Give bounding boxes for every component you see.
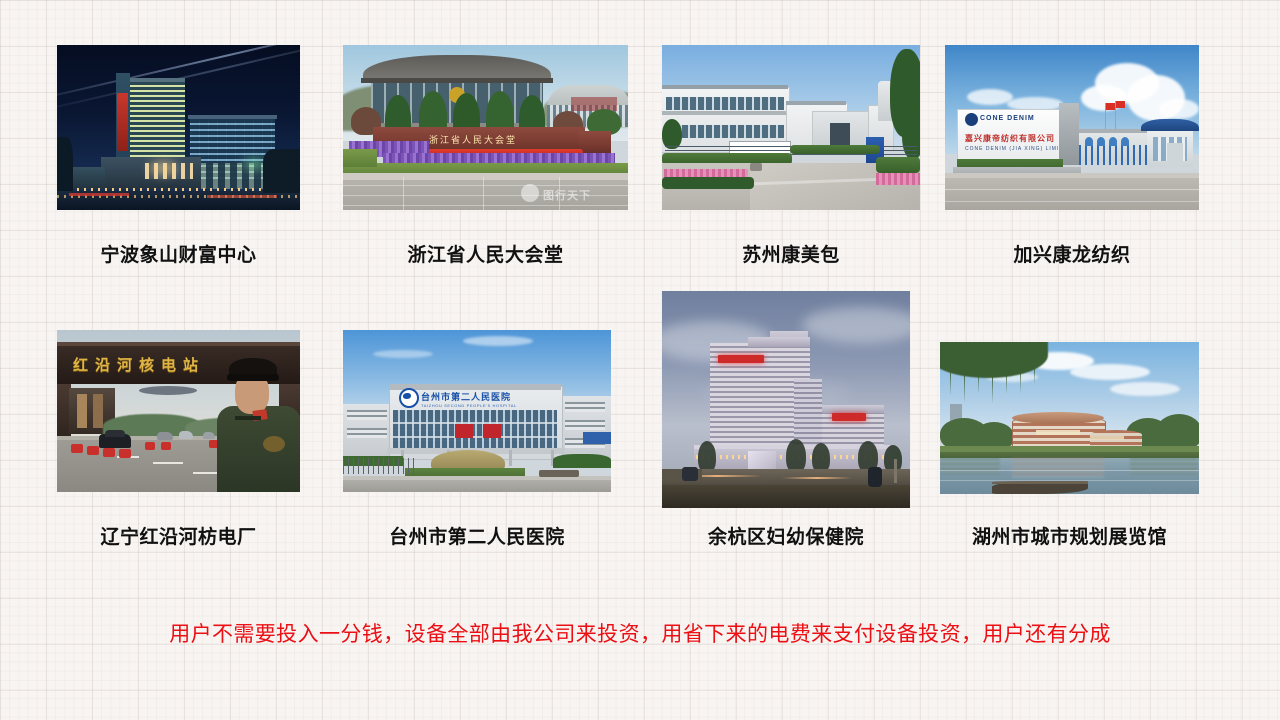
gallery-label-2: 浙江省人民大会堂 bbox=[343, 240, 628, 267]
gallery-label-7: 余杭区妇幼保健院 bbox=[662, 522, 910, 549]
cone-denim-cn-text: 嘉兴康帝纺织有限公司 bbox=[965, 133, 1055, 144]
gallery-label-5: 辽宁红沿河枋电厂 bbox=[57, 522, 300, 549]
photo-cone-denim-jiaxing-gate: CONE DENIM 嘉兴康帝纺织有限公司 CONE DENIM (JIA XI… bbox=[945, 45, 1199, 210]
gallery-label-3: 苏州康美包 bbox=[662, 240, 920, 267]
great-hall-watermark: 图行天下 bbox=[543, 187, 591, 203]
gallery-label-1: 宁波象山财富中心 bbox=[57, 240, 300, 267]
photo-yuhang-maternal-child-hospital bbox=[662, 291, 910, 508]
gallery-label-4: 加兴康龙纺织 bbox=[945, 240, 1199, 267]
great-hall-stone-text: 浙江省人民大会堂 bbox=[429, 133, 517, 146]
photo-hongyanhe-nuclear-power-station: 红沿河核电站 bbox=[57, 330, 300, 492]
cone-denim-logo-text: CONE DENIM bbox=[980, 115, 1035, 122]
bottom-note: 用户不需要投入一分钱，设备全部由我公司来投资，用省下来的电费来支付设备投资，用户… bbox=[0, 618, 1280, 648]
photo-suzhou-kangmeibao-factory bbox=[662, 45, 920, 210]
nuclear-gate-text: 红沿河核电站 bbox=[73, 354, 205, 375]
photo-zhejiang-peoples-great-hall: 浙江省人民大会堂 图行天下 bbox=[343, 45, 628, 210]
cone-denim-en-text: CONE DENIM (JIA XING) LIMITED bbox=[965, 146, 1072, 152]
slide-canvas: 宁波象山财富中心 浙江 bbox=[0, 0, 1280, 720]
photo-ningbo-xiangshan-fortune-center bbox=[57, 45, 300, 210]
gallery-label-8: 湖州市城市规划展览馆 bbox=[940, 522, 1199, 549]
photo-taizhou-second-peoples-hospital: 台州市第二人民医院 TAIZHOU SECOND PEOPLE'S HOSPIT… bbox=[343, 330, 611, 492]
photo-huzhou-urban-planning-exhibition-hall bbox=[940, 342, 1199, 494]
gallery-label-6: 台州市第二人民医院 bbox=[343, 522, 611, 549]
hospital-sign-en: TAIZHOU SECOND PEOPLE'S HOSPITAL bbox=[421, 403, 517, 408]
hospital-sign-cn: 台州市第二人民医院 bbox=[421, 390, 511, 403]
